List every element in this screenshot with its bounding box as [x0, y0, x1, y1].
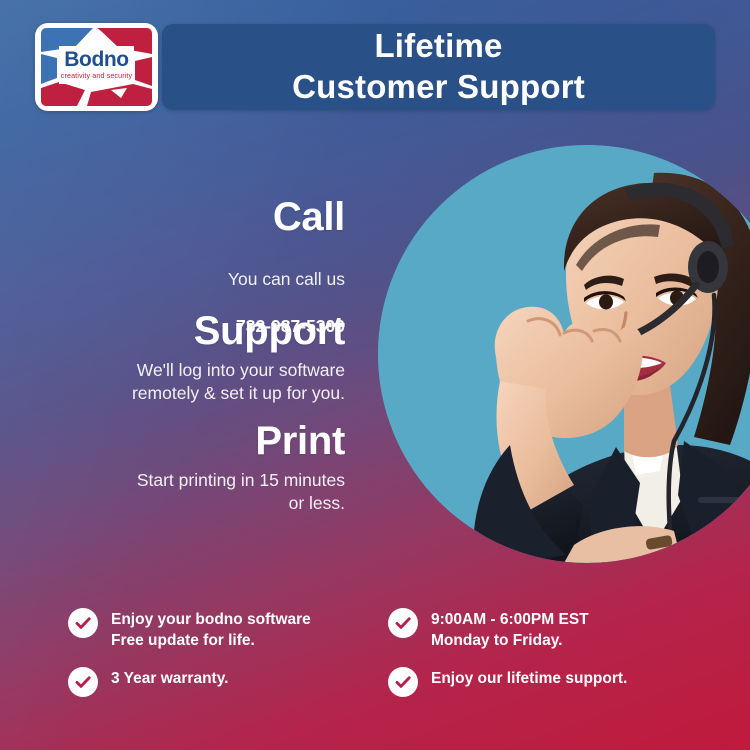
checklist-column-right: 9:00AM - 6:00PM EST Monday to Friday. En… [388, 607, 708, 697]
benefits-checklist: Enjoy your bodno software Free update fo… [68, 607, 708, 697]
support-agent-photo [378, 145, 750, 563]
section-support-heading: Support [15, 310, 345, 352]
list-item-label: 9:00AM - 6:00PM EST Monday to Friday. [431, 607, 589, 652]
bodno-logo[interactable]: Bodno creativity and security [35, 23, 158, 111]
logo-tagline: creativity and security [41, 72, 152, 79]
section-support: Support We'll log into your software rem… [15, 310, 345, 406]
list-item-label: Enjoy your bodno software Free update fo… [111, 607, 311, 652]
checklist-column-left: Enjoy your bodno software Free update fo… [68, 607, 388, 697]
section-print-heading: Print [15, 420, 345, 462]
check-circle-icon [68, 667, 98, 697]
section-call-body-text: You can call us [228, 269, 345, 289]
check-circle-icon [388, 667, 418, 697]
list-item-label: Enjoy our lifetime support. [431, 666, 627, 690]
list-item: Enjoy our lifetime support. [388, 666, 708, 697]
section-call-heading: Call [15, 196, 345, 238]
check-circle-icon [388, 608, 418, 638]
page-title: Lifetime Customer Support [162, 23, 715, 111]
check-circle-icon [68, 608, 98, 638]
lifetime-customer-support-poster: Lifetime Customer Support [0, 0, 750, 750]
list-item: 9:00AM - 6:00PM EST Monday to Friday. [388, 607, 708, 652]
logo-artwork: Bodno creativity and security [41, 28, 152, 106]
list-item-label: 3 Year warranty. [111, 666, 228, 690]
list-item: 3 Year warranty. [68, 666, 388, 697]
section-print: Print Start printing in 15 minutes or le… [15, 420, 345, 516]
logo-wordmark: Bodno [41, 49, 152, 70]
section-print-body: Start printing in 15 minutes or less. [15, 469, 345, 516]
section-support-body: We'll log into your software remotely & … [15, 359, 345, 406]
list-item: Enjoy your bodno software Free update fo… [68, 607, 388, 652]
headset-agent-photo [378, 145, 750, 563]
